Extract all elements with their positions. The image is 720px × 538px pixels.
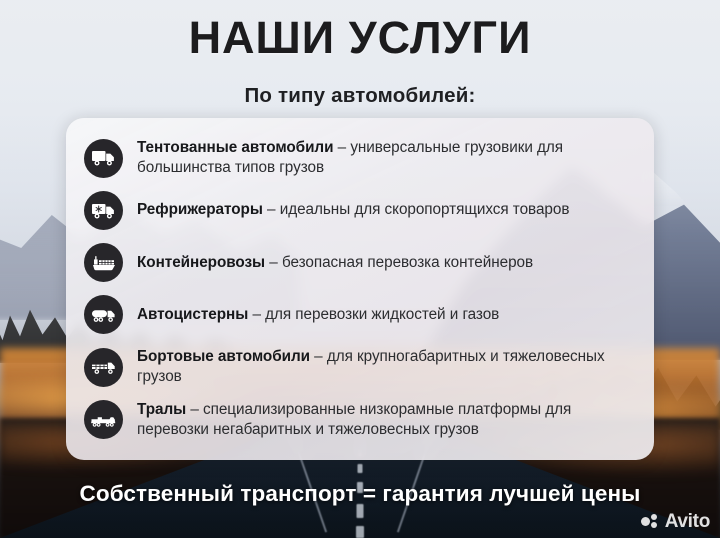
list-item: Бортовые автомобили – для крупногабаритн… bbox=[84, 347, 634, 387]
list-item: Тралы – специализированные низкорамные п… bbox=[84, 400, 634, 440]
road-center-dash bbox=[356, 526, 364, 538]
service-dash: – bbox=[310, 348, 327, 365]
list-item-text: Автоцистерны – для перевозки жидкостей и… bbox=[137, 305, 499, 325]
service-term: Бортовые автомобили bbox=[137, 348, 310, 365]
avito-watermark: Avito bbox=[641, 512, 710, 531]
container-ship-icon bbox=[84, 243, 123, 282]
list-item-text: Тралы – специализированные низкорамные п… bbox=[137, 400, 634, 440]
service-description: специализированные низкорамные платформы… bbox=[137, 401, 571, 438]
service-dash: – bbox=[265, 254, 282, 271]
service-dash: – bbox=[248, 306, 265, 323]
service-term: Контейнеровозы bbox=[137, 254, 265, 271]
tanker-truck-icon bbox=[84, 295, 123, 334]
service-dash: – bbox=[333, 139, 350, 156]
service-term: Тентованные автомобили bbox=[137, 139, 333, 156]
service-description: идеальны для скоропортящихся товаров bbox=[280, 201, 570, 218]
avito-watermark-label: Avito bbox=[665, 512, 710, 531]
list-item: Контейнеровозы – безопасная перевозка ко… bbox=[84, 243, 634, 283]
road-center-dash bbox=[358, 464, 363, 473]
page-title: НАШИ УСЛУГИ bbox=[0, 14, 720, 61]
box-truck-icon bbox=[84, 139, 123, 178]
list-item-text: Контейнеровозы – безопасная перевозка ко… bbox=[137, 253, 533, 273]
service-term: Рефрижераторы bbox=[137, 201, 263, 218]
avito-logo-icon bbox=[641, 514, 660, 529]
lowboy-trailer-icon bbox=[84, 400, 123, 439]
service-dash: – bbox=[263, 201, 280, 218]
poster-root: НАШИ УСЛУГИ По типу автомобилей: Тентова… bbox=[0, 0, 720, 538]
list-item-text: Тентованные автомобили – универсальные г… bbox=[137, 138, 634, 178]
refrigerator-truck-icon bbox=[84, 191, 123, 230]
list-item: Рефрижераторы – идеальны для скоропортящ… bbox=[84, 191, 634, 231]
page-subtitle: По типу автомобилей: bbox=[0, 84, 720, 108]
service-dash: – bbox=[186, 401, 203, 418]
list-item: Тентованные автомобили – универсальные г… bbox=[84, 138, 634, 178]
list-item-text: Рефрижераторы – идеальны для скоропортящ… bbox=[137, 200, 569, 220]
service-term: Тралы bbox=[137, 401, 186, 418]
list-item-text: Бортовые автомобили – для крупногабаритн… bbox=[137, 347, 634, 387]
list-item: Автоцистерны – для перевозки жидкостей и… bbox=[84, 295, 634, 335]
bottom-banner-text: Собственный транспорт = гарантия лучшей … bbox=[0, 481, 720, 507]
service-description: для перевозки жидкостей и газов bbox=[265, 306, 499, 323]
service-term: Автоцистерны bbox=[137, 306, 248, 323]
services-card: Тентованные автомобили – универсальные г… bbox=[66, 118, 654, 460]
service-description: безопасная перевозка контейнеров bbox=[282, 254, 533, 271]
flatbed-truck-icon bbox=[84, 348, 123, 387]
